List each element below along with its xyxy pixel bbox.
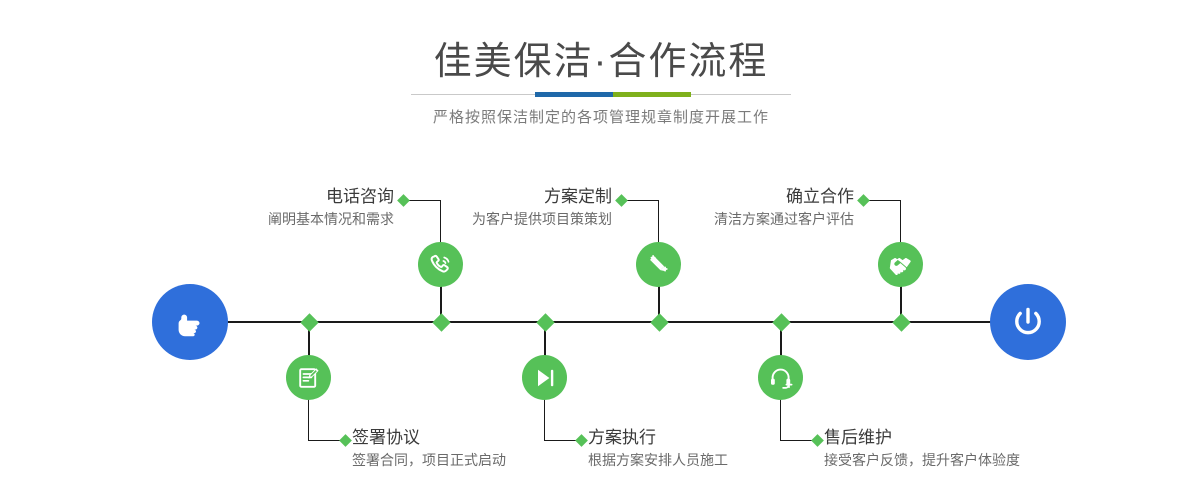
divider-segment-green xyxy=(613,92,691,97)
step-desc: 接受客户反馈，提升客户体验度 xyxy=(824,449,1084,471)
axis-marker xyxy=(772,313,790,331)
headset-support-icon xyxy=(768,365,794,391)
step-name: 方案执行 xyxy=(588,427,838,449)
connector-tip xyxy=(857,194,870,207)
power-icon xyxy=(1007,301,1049,343)
title-divider xyxy=(411,92,791,97)
step-label-6: 售后维护 接受客户反馈，提升客户体验度 xyxy=(824,427,1084,471)
axis-marker xyxy=(300,313,318,331)
divider-segment-blue xyxy=(535,92,613,97)
axis-marker xyxy=(536,313,554,331)
phone-call-icon xyxy=(428,252,454,278)
step-name: 售后维护 xyxy=(824,427,1084,449)
step-desc: 阐明基本情况和需求 xyxy=(149,208,394,230)
step-desc: 签署合同，项目正式启动 xyxy=(352,449,602,471)
axis-marker xyxy=(650,313,668,331)
page-title: 佳美保洁·合作流程 xyxy=(0,38,1202,86)
document-sign-icon xyxy=(296,365,322,391)
step-desc: 根据方案安排人员施工 xyxy=(588,449,838,471)
step-node-3[interactable] xyxy=(636,242,681,287)
step-name: 确立合作 xyxy=(609,186,854,208)
axis-marker xyxy=(892,313,910,331)
step-node-6[interactable] xyxy=(758,355,803,400)
step-desc: 清洁方案通过客户评估 xyxy=(609,208,854,230)
step-desc: 为客户提供项目策策划 xyxy=(367,208,612,230)
pencil-edit-icon xyxy=(646,252,672,278)
step-label-2: 签署协议 签署合同，项目正式启动 xyxy=(352,427,602,471)
step-label-1: 电话咨询 阐明基本情况和需求 xyxy=(149,186,394,230)
step-node-2[interactable] xyxy=(286,355,331,400)
pointing-hand-icon xyxy=(170,302,210,342)
axis-marker xyxy=(432,313,450,331)
timeline-end-node[interactable] xyxy=(990,284,1066,360)
step-label-5: 确立合作 清洁方案通过客户评估 xyxy=(609,186,854,230)
play-execute-icon xyxy=(532,365,558,391)
connector-riser xyxy=(308,398,309,441)
handshake-icon xyxy=(887,251,914,278)
step-name: 方案定制 xyxy=(367,186,612,208)
step-node-4[interactable] xyxy=(522,355,567,400)
step-name: 电话咨询 xyxy=(149,186,394,208)
step-label-4: 方案执行 根据方案安排人员施工 xyxy=(588,427,838,471)
step-node-5[interactable] xyxy=(878,242,923,287)
flowchart-canvas: 佳美保洁·合作流程 严格按照保洁制定的各项管理规章制度开展工作 xyxy=(0,0,1202,502)
step-node-1[interactable] xyxy=(418,242,463,287)
page-subtitle: 严格按照保洁制定的各项管理规章制度开展工作 xyxy=(0,106,1202,130)
connector-tip xyxy=(339,434,352,447)
timeline-start-node[interactable] xyxy=(152,284,228,360)
connector-riser xyxy=(900,200,901,245)
step-name: 签署协议 xyxy=(352,427,602,449)
step-label-3: 方案定制 为客户提供项目策策划 xyxy=(367,186,612,230)
